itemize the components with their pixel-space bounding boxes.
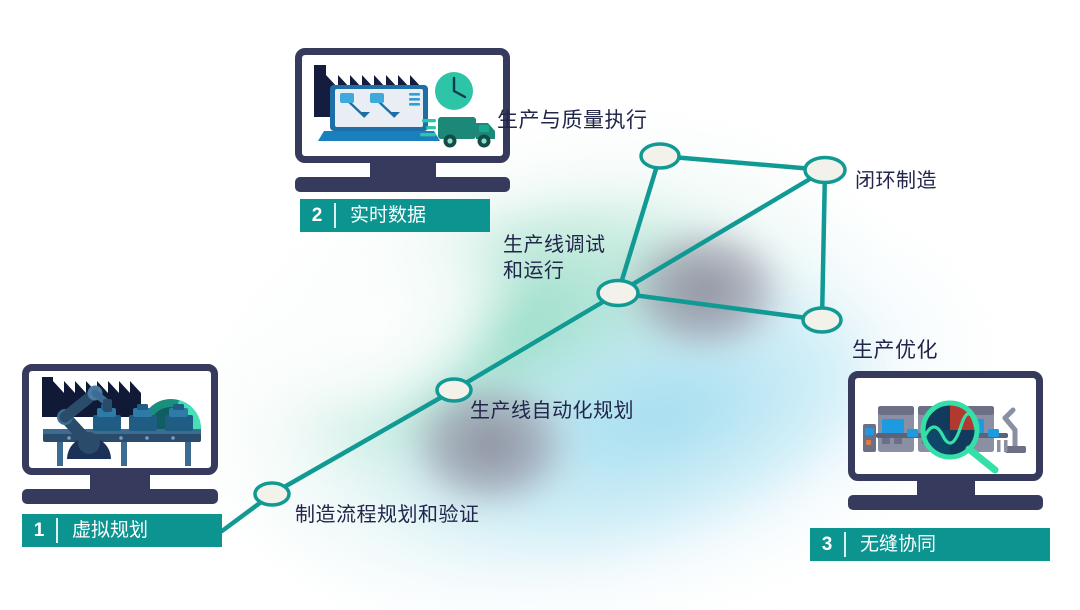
factory-robot-conveyor-gauge-icon bbox=[29, 371, 211, 468]
badge-3-label: 无缝协同 bbox=[846, 528, 936, 561]
node-label-line-commissioning-line2: 和运行 bbox=[503, 258, 565, 284]
badge-2-separator bbox=[334, 203, 336, 228]
node-n2 bbox=[437, 379, 471, 401]
monitor-screen-right bbox=[848, 371, 1043, 481]
production-line-magnifier-icon bbox=[855, 378, 1036, 474]
badge-2-number: 2 bbox=[300, 199, 334, 232]
monitor-screen-top bbox=[295, 48, 510, 163]
node-label-line-commissioning-line1: 生产线调试 bbox=[503, 232, 606, 258]
node-label-line-automation-planning: 生产线自动化规划 bbox=[470, 398, 634, 424]
badge-3-separator bbox=[844, 532, 846, 557]
monitor-screen-left bbox=[22, 364, 218, 475]
badge-1-label: 虚拟规划 bbox=[58, 514, 148, 547]
node-n5 bbox=[805, 158, 845, 183]
monitor-base-left bbox=[22, 489, 218, 504]
badge-2-real-time-data[interactable]: 2 实时数据 bbox=[300, 199, 490, 232]
monitor-neck-left bbox=[90, 475, 150, 489]
monitor-base-right bbox=[848, 495, 1043, 510]
node-label-manufacturing-process-planning: 制造流程规划和验证 bbox=[295, 502, 480, 528]
edge-n5-n6 bbox=[822, 170, 825, 320]
node-n6 bbox=[803, 308, 841, 332]
factory-laptop-truck-clock-icon bbox=[302, 55, 503, 156]
screen-title-production-optimization: 生产优化 bbox=[852, 334, 938, 364]
screen-title-production-quality-execution: 生产与质量执行 bbox=[497, 104, 648, 134]
badge-2-label: 实时数据 bbox=[336, 199, 426, 232]
edge-n2-n3 bbox=[454, 293, 618, 390]
badge-3-number: 3 bbox=[810, 528, 844, 561]
edge-n1-n2 bbox=[272, 390, 454, 494]
monitor-base-top bbox=[295, 177, 510, 192]
badge-3-seamless-collaboration[interactable]: 3 无缝协同 bbox=[810, 528, 1050, 561]
monitor-neck-top bbox=[370, 163, 436, 177]
node-n3 bbox=[598, 281, 638, 306]
monitor-virtual-planning bbox=[22, 364, 218, 504]
badge-1-virtual-planning[interactable]: 1 虚拟规划 bbox=[22, 514, 222, 547]
monitor-neck-right bbox=[917, 481, 975, 495]
node-n1 bbox=[255, 483, 289, 505]
monitor-production-optimization bbox=[848, 371, 1043, 510]
node-n4 bbox=[641, 144, 679, 168]
badge-1-number: 1 bbox=[22, 514, 56, 547]
node-label-closed-loop-manufacturing: 闭环制造 bbox=[855, 168, 937, 194]
edge-n3-n6 bbox=[618, 293, 822, 320]
diagram-canvas: 制造流程规划和验证 生产线自动化规划 生产线调试 和运行 闭环制造 bbox=[0, 0, 1080, 610]
monitor-production-quality-execution bbox=[295, 48, 510, 192]
edge-n4-n5 bbox=[660, 156, 825, 170]
badge-1-separator bbox=[56, 518, 58, 543]
